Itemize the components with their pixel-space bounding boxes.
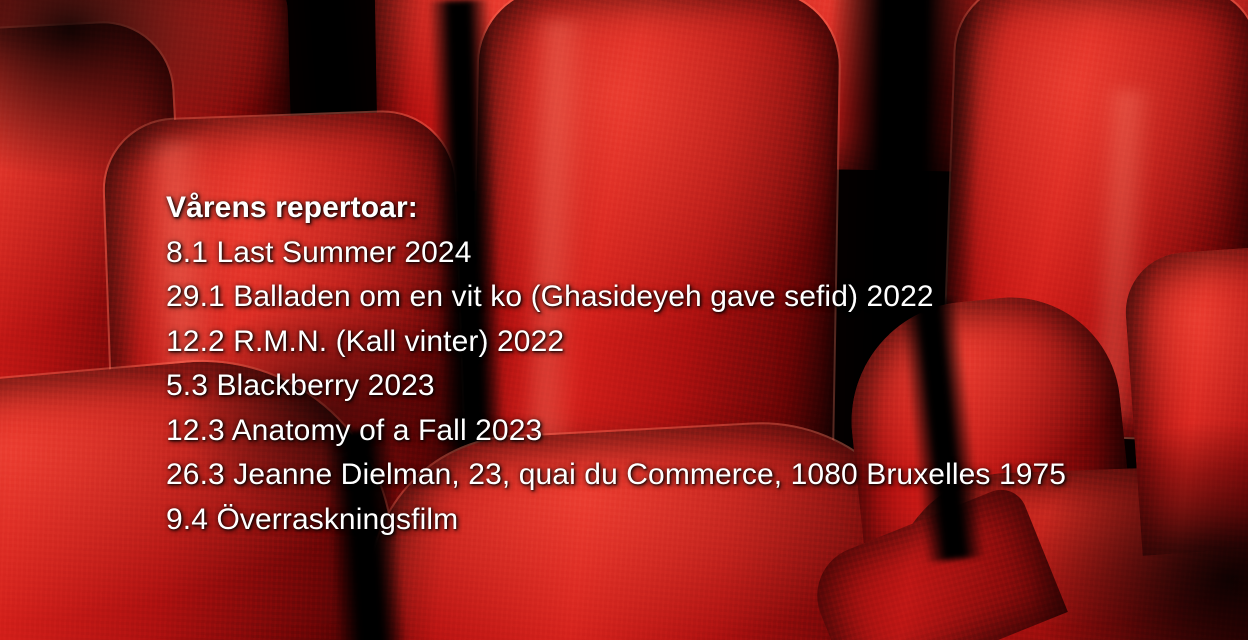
screening-line-2: 29.1 Balladen om en vit ko (Ghasideyeh g…	[166, 275, 1166, 320]
screening-line-6: 26.3 Jeanne Dielman, 23, quai du Commerc…	[166, 453, 1166, 498]
corner-shadow-top-left	[0, 0, 260, 180]
screening-line-3: 12.2 R.M.N. (Kall vinter) 2022	[166, 320, 1166, 365]
screening-line-1: 8.1 Last Summer 2024	[166, 231, 1166, 276]
screening-line-5: 12.3 Anatomy of a Fall 2023	[166, 409, 1166, 454]
repertoire-heading: Vårens repertoar:	[166, 186, 1166, 231]
screening-line-4: 5.3 Blackberry 2023	[166, 364, 1166, 409]
cinema-repertoire-slide: Vårens repertoar: 8.1 Last Summer 2024 2…	[0, 0, 1248, 640]
repertoire-text-block: Vårens repertoar: 8.1 Last Summer 2024 2…	[166, 186, 1166, 542]
screening-line-7: 9.4 Överraskningsfilm	[166, 498, 1166, 543]
